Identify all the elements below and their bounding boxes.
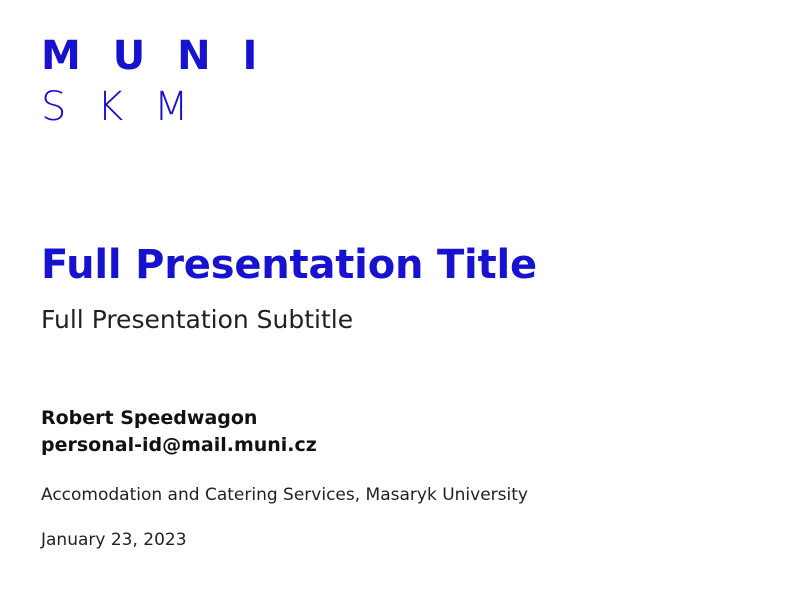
title-slide: M U N I S K M Full Presentation Title Fu… bbox=[0, 0, 794, 596]
author-email: personal-id@mail.muni.cz bbox=[41, 432, 317, 459]
logo-text-muni: M U N I bbox=[41, 36, 266, 76]
author-affiliation: Accomodation and Catering Services, Masa… bbox=[41, 484, 528, 506]
presentation-subtitle: Full Presentation Subtitle bbox=[41, 305, 353, 335]
presentation-date: January 23, 2023 bbox=[41, 529, 187, 551]
author-name: Robert Speedwagon bbox=[41, 405, 317, 432]
presentation-title: Full Presentation Title bbox=[41, 243, 537, 288]
muni-skm-logo: M U N I S K M bbox=[41, 36, 266, 127]
logo-text-skm: S K M bbox=[41, 87, 266, 127]
author-block: Robert Speedwagon personal-id@mail.muni.… bbox=[41, 405, 317, 459]
